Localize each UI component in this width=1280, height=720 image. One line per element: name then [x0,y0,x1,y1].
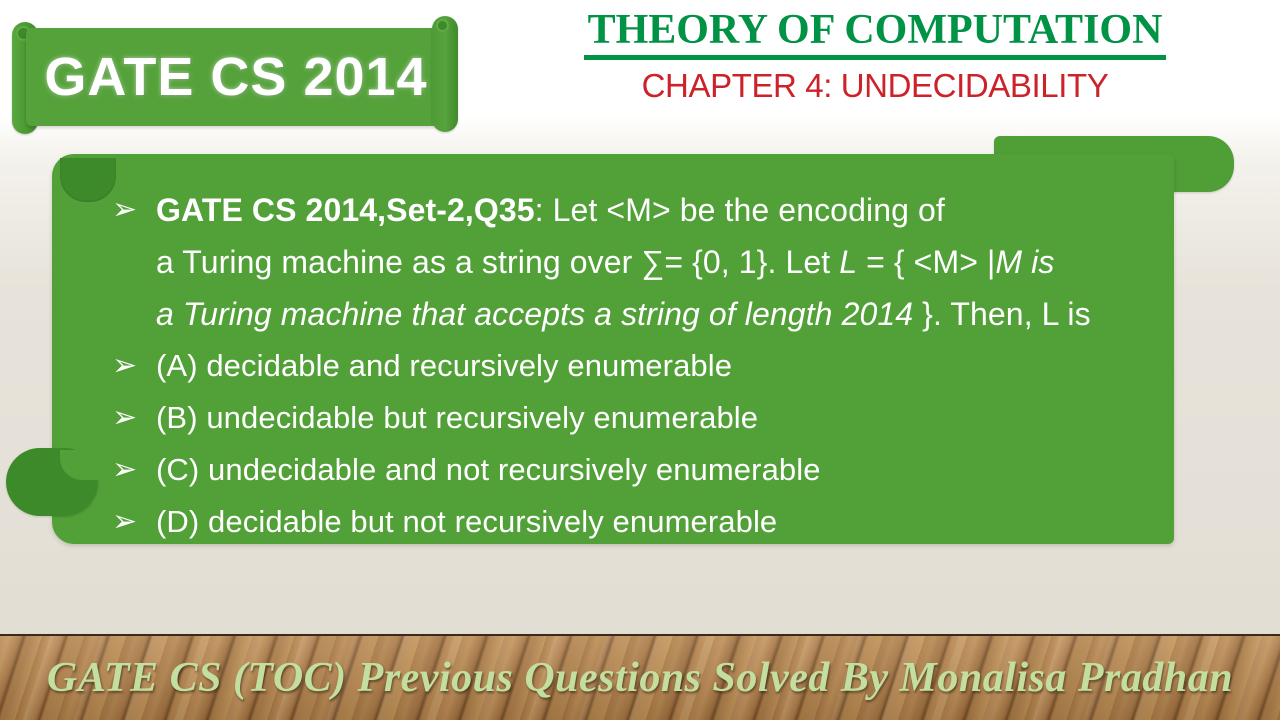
question-row: ➢ GATE CS 2014,Set-2,Q35: Let <M> be the… [110,184,1278,340]
option-row-d[interactable]: ➢ (D) decidable but not recursively enum… [110,496,1278,548]
option-label-c: (C) undecidable and not recursively enum… [156,444,1278,496]
question-line-2-c: = { <M> | [857,244,995,280]
option-row-b[interactable]: ➢ (B) undecidable but recursively enumer… [110,392,1278,444]
option-row-a[interactable]: ➢ (A) decidable and recursively enumerab… [110,340,1278,392]
header-titles: THEORY OF COMPUTATION CHAPTER 4: UNDECID… [470,8,1280,105]
question-line-3-rest: }. Then, L is [913,296,1091,332]
question-line-1-rest: : Let <M> be the encoding of [535,192,945,228]
question-line-2-b: = {0, 1}. Let [664,244,839,280]
option-label-a: (A) decidable and recursively enumerable [156,340,1278,392]
question-line-3-italic: a Turing machine that accepts a string o… [156,296,913,332]
subject-title: THEORY OF COMPUTATION [584,8,1167,60]
content-scroll-panel: ➢ GATE CS 2014,Set-2,Q35: Let <M> be the… [52,136,1234,560]
sigma-symbol: ∑ [641,244,664,280]
language-symbol-L: L [839,244,857,280]
bullet-arrow-icon: ➢ [110,184,156,236]
bullet-arrow-icon: ➢ [110,340,156,392]
banner-title: GATE CS 2014 [26,28,446,126]
question-line-2-a: a Turing machine as a string over [156,244,641,280]
footer-bar: GATE CS (TOC) Previous Questions Solved … [0,634,1280,720]
slide-root: GATE CS 2014 THEORY OF COMPUTATION CHAPT… [0,0,1280,720]
question-line-2: a Turing machine as a string over ∑= {0,… [156,236,1278,288]
question-text: GATE CS 2014,Set-2,Q35: Let <M> be the e… [156,184,1278,340]
option-row-c[interactable]: ➢ (C) undecidable and not recursively en… [110,444,1278,496]
question-line-2-italic: M is [995,244,1054,280]
gate-banner: GATE CS 2014 [12,14,464,126]
option-label-b: (B) undecidable but recursively enumerab… [156,392,1278,444]
bullet-arrow-icon: ➢ [110,496,156,548]
question-line-1: GATE CS 2014,Set-2,Q35: Let <M> be the e… [156,184,1278,236]
bullet-arrow-icon: ➢ [110,392,156,444]
bullet-arrow-icon: ➢ [110,444,156,496]
question-body: ➢ GATE CS 2014,Set-2,Q35: Let <M> be the… [110,184,1278,548]
option-label-d: (D) decidable but not recursively enumer… [156,496,1278,548]
chapter-title: CHAPTER 4: UNDECIDABILITY [470,67,1280,105]
question-line-3: a Turing machine that accepts a string o… [156,288,1278,340]
question-label: GATE CS 2014,Set-2,Q35 [156,192,535,228]
footer-credit-text: GATE CS (TOC) Previous Questions Solved … [0,654,1280,702]
